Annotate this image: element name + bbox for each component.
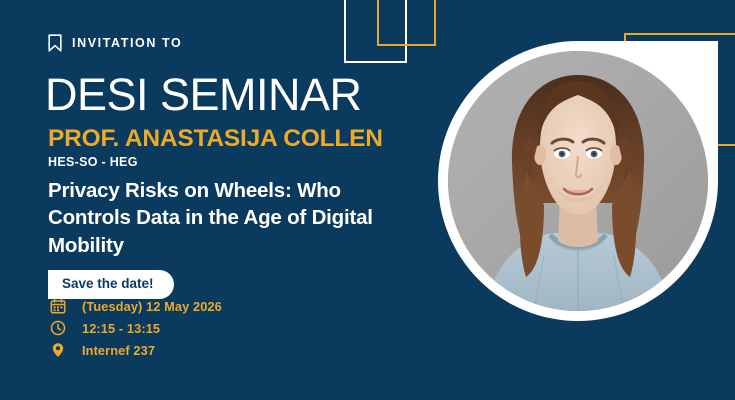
event-details: (Tuesday) 12 May 2026 12:15 - 13:15 Inte… [50, 298, 222, 358]
invitation-kicker: INVITATION TO [48, 34, 182, 52]
detail-text-time: 12:15 - 13:15 [82, 321, 160, 336]
speaker-name: PROF. ANASTASIJA COLLEN [48, 127, 383, 152]
page-title: DESI SEMINAR [45, 72, 362, 117]
talk-title: Privacy Risks on Wheels: Who Controls Da… [48, 177, 418, 259]
detail-row-date: (Tuesday) 12 May 2026 [50, 298, 222, 314]
portrait-panel [438, 41, 718, 323]
detail-text-date: (Tuesday) 12 May 2026 [82, 299, 222, 314]
detail-text-location: Internef 237 [82, 343, 155, 358]
bookmark-icon [48, 34, 62, 52]
detail-row-time: 12:15 - 13:15 [50, 320, 222, 336]
location-pin-icon [50, 342, 66, 358]
calendar-icon [50, 298, 66, 314]
save-the-date-badge: Save the date! [48, 270, 174, 299]
speaker-affiliation: HES-SO - HEG [48, 155, 138, 169]
avatar [448, 51, 708, 311]
portrait-photo [448, 51, 708, 311]
poster-content: INVITATION TO DESI SEMINAR PROF. ANASTAS… [48, 0, 448, 400]
invitation-kicker-label: INVITATION TO [72, 36, 182, 50]
seminar-invitation-poster: INVITATION TO DESI SEMINAR PROF. ANASTAS… [0, 0, 735, 400]
clock-icon [50, 320, 66, 336]
detail-row-location: Internef 237 [50, 342, 222, 358]
